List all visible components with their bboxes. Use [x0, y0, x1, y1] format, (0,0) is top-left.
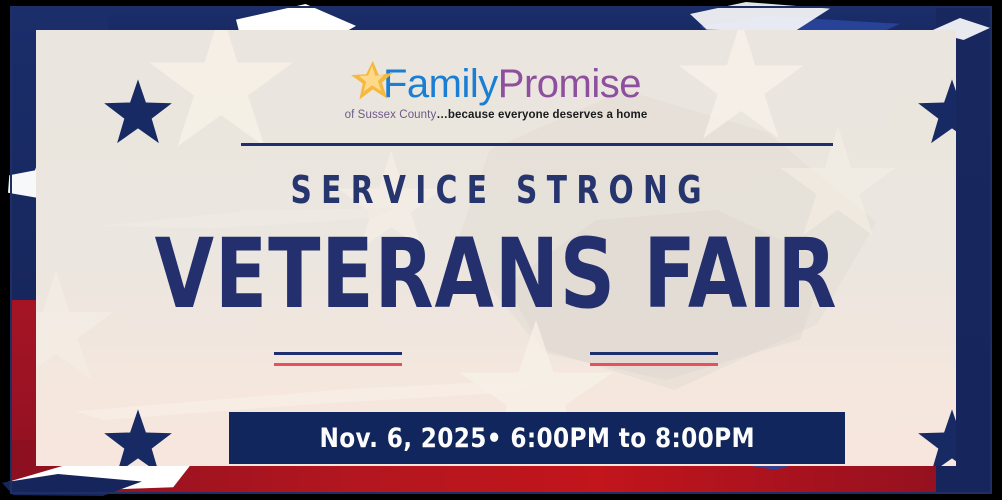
logo-word-promise: Promise	[498, 62, 641, 106]
rule-right-navy	[590, 352, 718, 355]
family-promise-logo: Family Promise of Sussex County…because …	[36, 62, 956, 121]
corner-star-bottom-right-icon	[916, 408, 956, 466]
date-time-banner: Nov. 6, 2025• 6:00PM to 8:00PM	[229, 412, 845, 464]
date-time-text: Nov. 6, 2025• 6:00PM to 8:00PM	[319, 423, 754, 454]
logo-divider-rule	[241, 143, 833, 146]
kicker-text: SERVICE STRONG	[137, 168, 855, 212]
rule-right-red	[590, 363, 718, 366]
rule-group-left	[274, 352, 402, 366]
logo-tagline: of Sussex County…because everyone deserv…	[36, 109, 956, 121]
rule-left-red	[274, 363, 402, 366]
watermark-star-6	[36, 270, 116, 390]
logo-word-family: Family	[383, 62, 498, 106]
logo-tagline-motto: …because everyone deserves a home	[436, 109, 647, 121]
decorative-rules	[36, 352, 956, 372]
logo-star-icon	[351, 60, 393, 102]
logo-tagline-chapter: of Sussex County	[345, 109, 437, 121]
flyer-content-panel: Family Promise of Sussex County…because …	[36, 30, 956, 466]
page-title: VETERANS FAIR	[128, 226, 864, 322]
veterans-fair-flyer: Family Promise of Sussex County…because …	[0, 0, 1002, 500]
rule-group-right	[590, 352, 718, 366]
rule-left-navy	[274, 352, 402, 355]
